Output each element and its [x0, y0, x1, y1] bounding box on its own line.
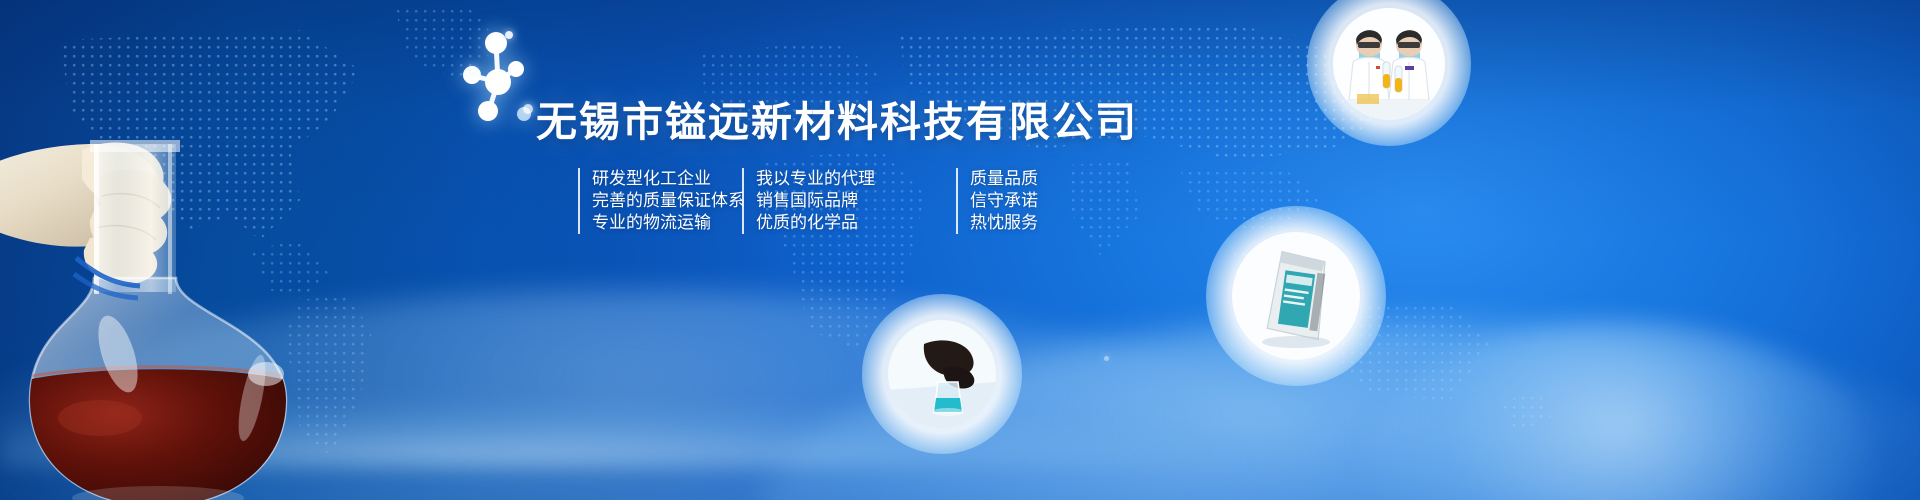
hand-pouring-beaker-photo — [888, 320, 996, 428]
sparkle-dot — [505, 31, 513, 39]
slogan-line: 热忱服务 — [970, 212, 1100, 234]
sparkle-dot — [1104, 356, 1109, 361]
page-title: 无锡市镒远新材料科技有限公司 — [536, 88, 1138, 148]
slogan-line: 我以专业的代理 — [756, 168, 956, 190]
bubble-lab-technicians — [1333, 8, 1445, 120]
bubble-hand-pouring — [888, 320, 996, 428]
slogan-line: 信守承诺 — [970, 190, 1100, 212]
slogan-column-1: 研发型化工企业 完善的质量保证体系 专业的物流运输 — [578, 168, 742, 234]
bubble-product-package — [1232, 232, 1360, 360]
slogan-line: 优质的化学品 — [756, 212, 956, 234]
slogan-column-2: 我以专业的代理 销售国际品牌 优质的化学品 — [742, 168, 956, 234]
slogan-line: 完善的质量保证体系 — [592, 190, 742, 212]
company-banner: 无锡市镒远新材料科技有限公司 研发型化工企业 完善的质量保证体系 专业的物流运输… — [0, 0, 1920, 500]
slogan-column-3: 质量品质 信守承诺 热忱服务 — [956, 168, 1100, 234]
slogan-columns: 研发型化工企业 完善的质量保证体系 专业的物流运输 我以专业的代理 销售国际品牌… — [578, 168, 1100, 234]
slogan-line: 专业的物流运输 — [592, 212, 742, 234]
slogan-line: 销售国际品牌 — [756, 190, 956, 212]
product-package-photo — [1232, 232, 1360, 360]
lab-technicians-photo — [1333, 8, 1445, 120]
slogan-line: 质量品质 — [970, 168, 1100, 190]
slogan-line: 研发型化工企业 — [592, 168, 742, 190]
flask-illustration — [0, 78, 350, 500]
sparkle-dot — [523, 104, 533, 114]
sparkle-dot — [470, 66, 476, 72]
